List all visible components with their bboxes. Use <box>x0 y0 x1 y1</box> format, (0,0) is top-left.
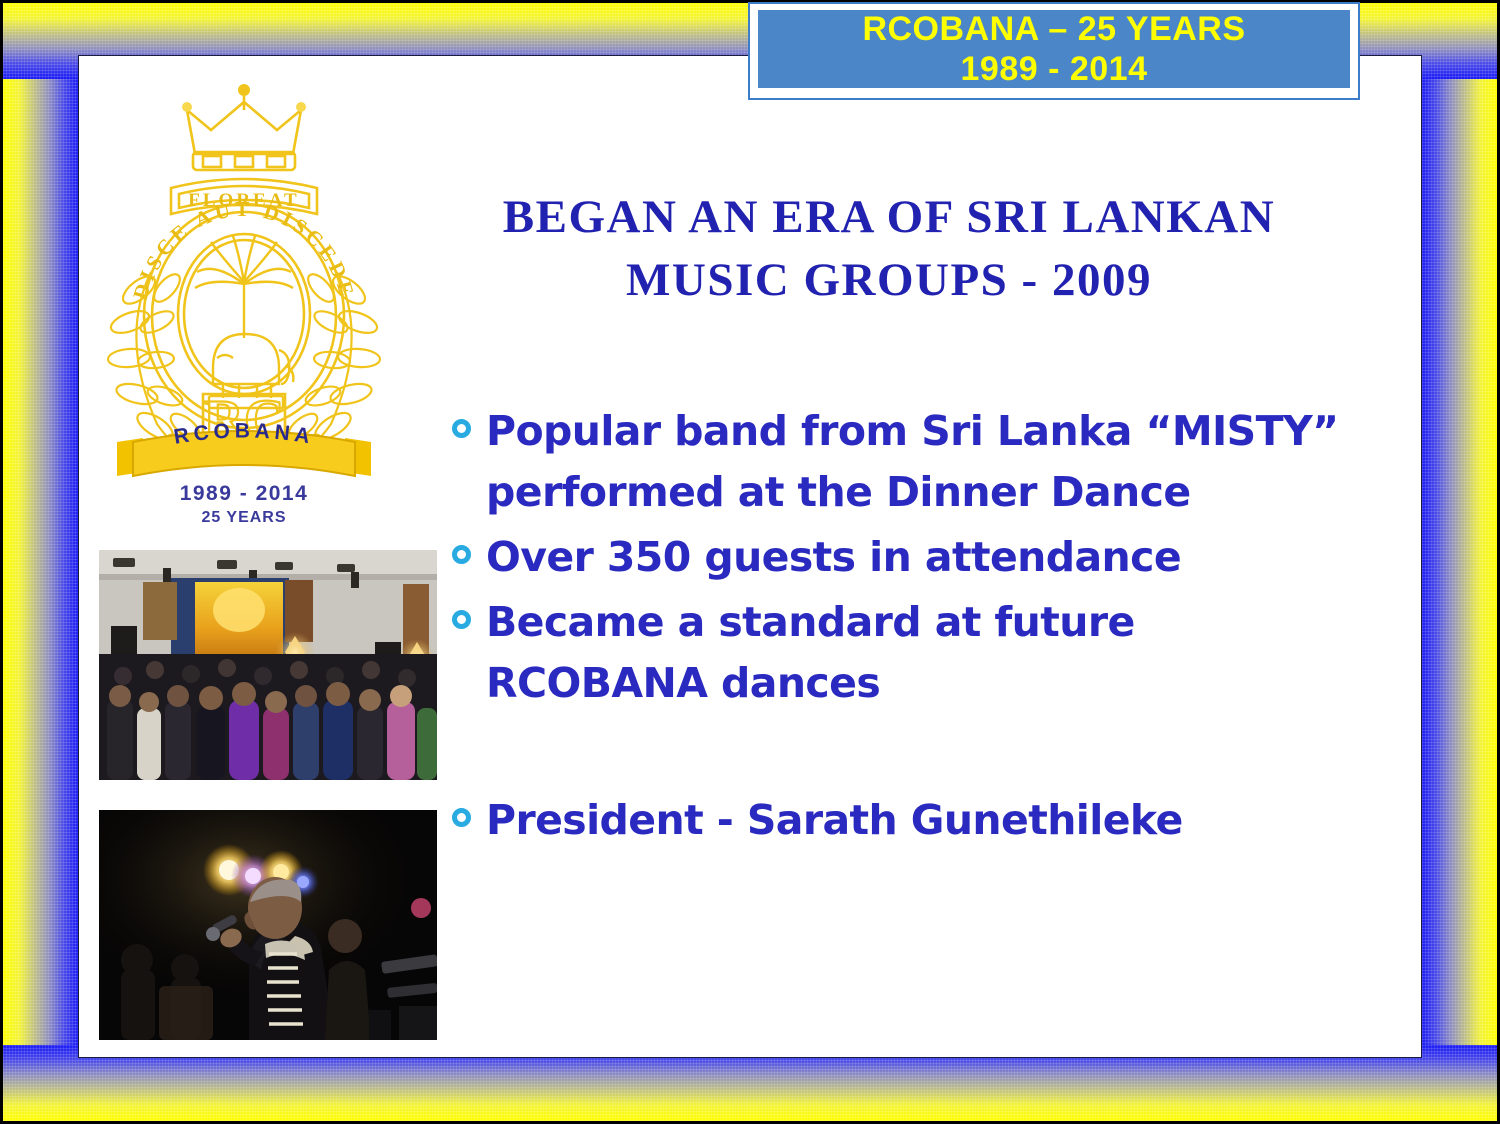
banner-inner: RCOBANA – 25 YEARS 1989 - 2014 <box>758 10 1350 88</box>
misty-band-singer-on-stage-photo <box>99 810 437 1040</box>
svg-text:1989 - 2014: 1989 - 2014 <box>180 482 309 505</box>
bullet-circle-icon <box>452 592 486 629</box>
slide-title: BEGAN AN ERA OF SRI LANKAN MUSIC GROUPS … <box>409 186 1369 312</box>
bullet-text: President - Sarath Gunethileke <box>486 790 1352 851</box>
list-item: President - Sarath Gunethileke <box>452 790 1352 851</box>
bullet-circle-icon <box>452 527 486 564</box>
title-line-1: BEGAN AN ERA OF SRI LANKAN <box>409 186 1369 249</box>
bullet-circle-icon <box>452 790 486 827</box>
slide-canvas: FLOREAT DISCE AUT DISCEDE <box>78 55 1422 1058</box>
bullet-circle-icon <box>452 401 486 438</box>
banner-line-1: RCOBANA – 25 YEARS <box>862 9 1245 49</box>
dinner-dance-crowd-photo <box>99 550 437 780</box>
bullet-text: Popular band from Sri Lanka “MISTY” perf… <box>486 401 1352 523</box>
bullet-text: Over 350 guests in attendance <box>486 527 1352 588</box>
list-item: Popular band from Sri Lanka “MISTY” perf… <box>452 401 1352 523</box>
slide: FLOREAT DISCE AUT DISCEDE <box>0 0 1500 1124</box>
list-spacer <box>452 718 1352 790</box>
bullet-list: Popular band from Sri Lanka “MISTY” perf… <box>452 401 1352 855</box>
rcobana-crest-logo: FLOREAT DISCE AUT DISCEDE <box>99 76 389 526</box>
list-item: Over 350 guests in attendance <box>452 527 1352 588</box>
title-line-2: MUSIC GROUPS - 2009 <box>409 249 1369 312</box>
rcobana-anniversary-banner: RCOBANA – 25 YEARS 1989 - 2014 <box>748 2 1360 100</box>
banner-line-2: 1989 - 2014 <box>961 49 1148 89</box>
svg-text:25 YEARS: 25 YEARS <box>201 509 286 526</box>
list-item: Became a standard at future RCOBANA danc… <box>452 592 1352 714</box>
bullet-text: Became a standard at future RCOBANA danc… <box>486 592 1352 714</box>
